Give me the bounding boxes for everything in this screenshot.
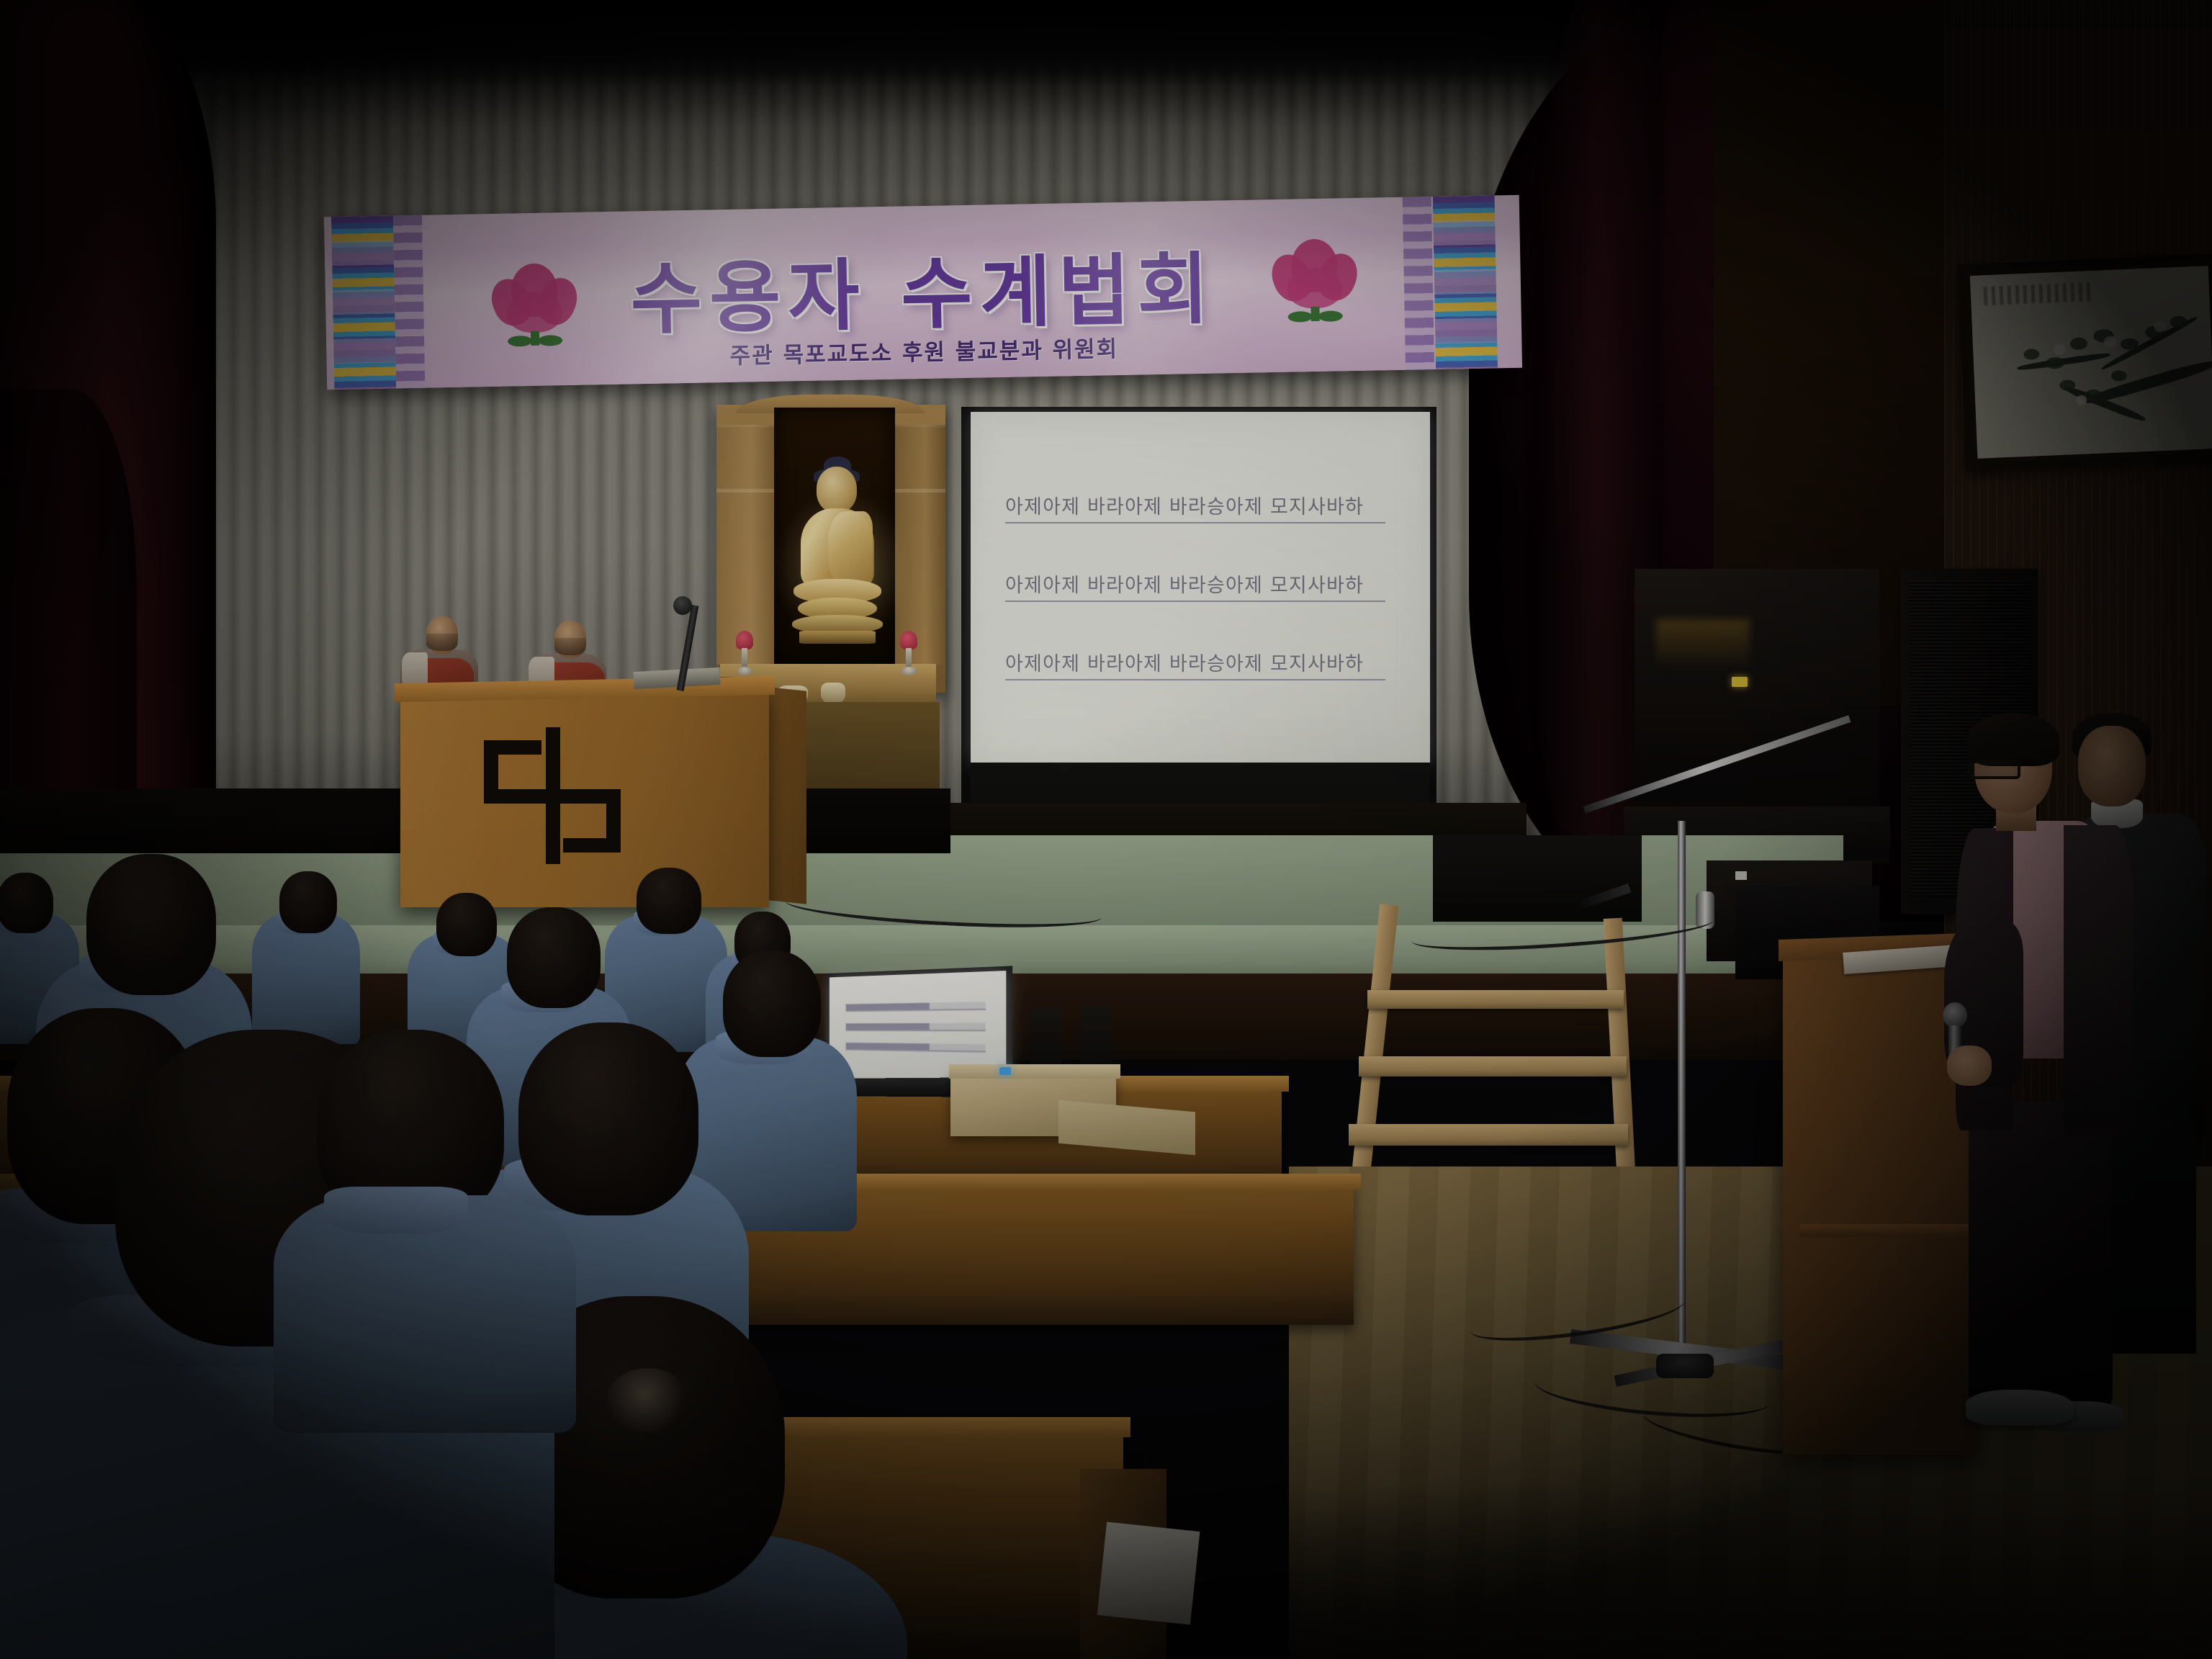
- altar-candle-left: [736, 631, 753, 677]
- laptop-mantra-line-2: [846, 1023, 986, 1032]
- wall-painting-plum-blossom: [1970, 266, 2212, 459]
- amplifier-button[interactable]: [1735, 871, 1747, 880]
- microphone-stand-pole[interactable]: [1678, 821, 1686, 1368]
- buddha-robe: [828, 511, 873, 588]
- shrine-panel-right: [895, 425, 945, 665]
- altar-offering-bowl-2: [821, 683, 845, 704]
- speaker-trousers: [1969, 1102, 2113, 1411]
- mantra-line-1: 아제아제 바라아제 바라승아제 모지사바하: [1005, 491, 1385, 523]
- house-floor-shadow: [1289, 1483, 2212, 1659]
- shrine-panel-left: [716, 425, 774, 665]
- laptop-mantra-line-3: [846, 1043, 986, 1053]
- wooden-box-led-indicator: [999, 1067, 1011, 1075]
- wall-painting-frame: [1958, 254, 2212, 471]
- speaker-reading-at-lectern: [1930, 720, 2167, 1483]
- laptop-mantra-line-1: [846, 1002, 986, 1012]
- projection-screen-surface: 아제아제 바라아제 바라승아제 모지사바하 아제아제 바라아제 바라승아제 모지…: [971, 412, 1430, 763]
- speaker-hair: [1967, 713, 2059, 766]
- manji-buddhist-symbol-icon: [484, 727, 621, 864]
- painting-calligraphy-inscription: [1983, 282, 2092, 305]
- speaker-hand: [1947, 1046, 1992, 1086]
- speaker-vest-right: [2064, 825, 2133, 1135]
- golden-buddha-statue: [791, 467, 883, 647]
- mantra-line-3: 아제아제 바라아제 바라승아제 모지사바하: [1005, 648, 1385, 680]
- event-banner: 수용자 수계법회 주관 목포교도소 후원 불교분과 위원회: [324, 195, 1522, 390]
- photo-scene: 수용자 수계법회 주관 목포교도소 후원 불교분과 위원회: [0, 0, 2212, 1659]
- altar-candle-right: [900, 631, 917, 677]
- projected-mantra-block: 아제아제 바라아제 바라승아제 모지사바하 아제아제 바라아제 바라승아제 모지…: [1005, 491, 1408, 727]
- av-rack-indicator-led: [1732, 677, 1748, 687]
- av-rack-display-glow: [1656, 619, 1750, 670]
- stair-tread-4[interactable]: [1367, 990, 1624, 1009]
- buddha-head: [817, 467, 857, 513]
- speaker-shoe-left: [1966, 1390, 2074, 1426]
- mantra-line-2: 아제아제 바라아제 바라승아제 모지사바하: [1005, 570, 1385, 602]
- wooden-box-lid: [949, 1064, 1120, 1079]
- paper-on-pew: [1097, 1522, 1200, 1625]
- buddha-pedestal: [799, 631, 876, 644]
- av-amplifier-rack: [1635, 569, 1879, 828]
- podium-microphone-head-icon: [673, 596, 692, 615]
- speaker-glasses-icon: [1969, 760, 2020, 779]
